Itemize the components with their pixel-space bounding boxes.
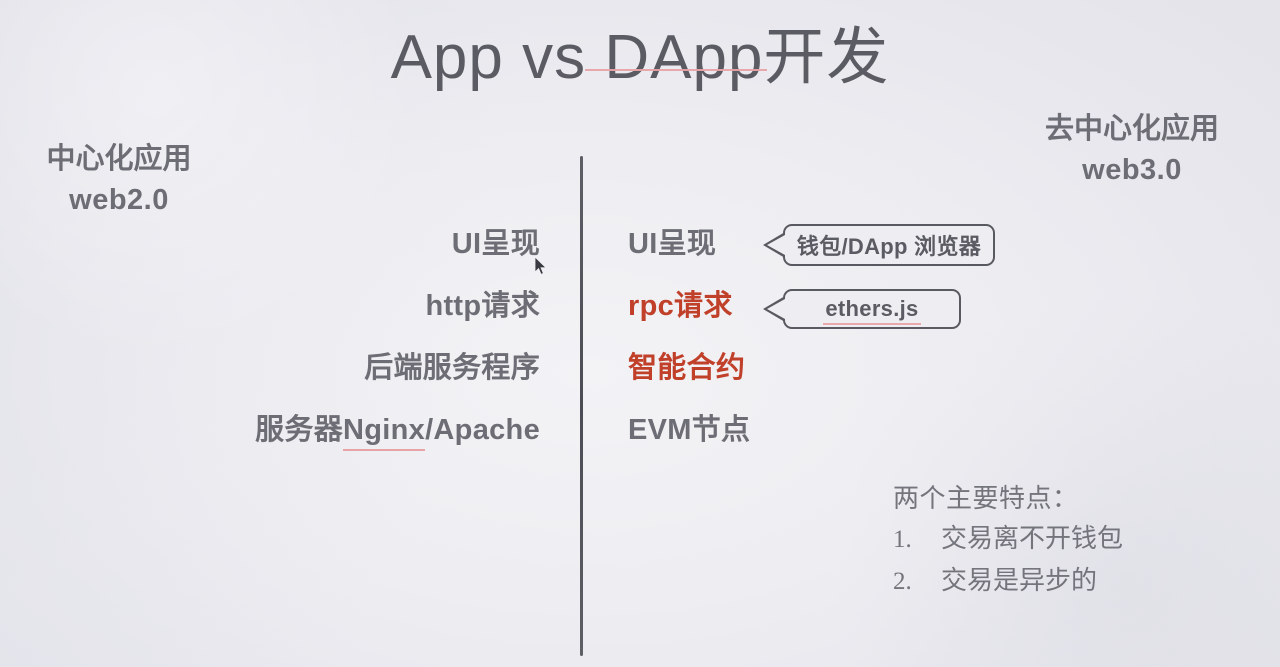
callout-tail-fill-icon: [767, 235, 785, 255]
right-stack-item-contract: 智能合约: [628, 346, 948, 408]
notes-block: 两个主要特点： 1. 交易离不开钱包 2. 交易是异步的: [893, 478, 1123, 602]
left-stack-item-backend: 后端服务程序: [100, 346, 540, 408]
column-divider: [580, 156, 583, 656]
title-underline: [585, 69, 767, 71]
callout-wallet-browser-label: 钱包/DApp 浏览器: [797, 229, 981, 261]
callout-ethers-label: ethers.js: [825, 296, 918, 322]
right-column-subheader: web3.0: [1012, 153, 1252, 188]
left-stack-item-ui: UI呈现: [100, 222, 540, 284]
left-stack-item-http: http请求: [100, 284, 540, 346]
left-column-header: 中心化应用 web2.0: [24, 142, 214, 219]
left-column-stack: UI呈现 http请求 后端服务程序 服务器Nginx/Apache: [100, 222, 540, 470]
left-stack-item-server: 服务器Nginx/Apache: [100, 408, 540, 470]
notes-item-text: 交易是异步的: [941, 560, 1097, 600]
right-column-header-label: 去中心化应用: [1045, 113, 1219, 145]
notes-item-number: 1.: [893, 520, 941, 560]
callout-ethers: ethers.js: [783, 289, 961, 329]
notes-item: 1. 交易离不开钱包: [893, 518, 1123, 560]
left-stack-item-server-nginx: Nginx: [343, 414, 425, 446]
notes-title: 两个主要特点：: [893, 478, 1123, 518]
notes-item-number: 2.: [893, 562, 941, 602]
page-title: App vs DApp开发: [0, 6, 1280, 96]
left-stack-item-server-prefix: 服务器: [255, 414, 343, 446]
right-column-header: 去中心化应用 web3.0: [1012, 112, 1252, 189]
left-column-header-label: 中心化应用: [46, 143, 191, 175]
notes-item: 2. 交易是异步的: [893, 560, 1123, 602]
callout-wallet-browser: 钱包/DApp 浏览器: [783, 224, 995, 266]
slide-canvas: App vs DApp开发 中心化应用 web2.0 去中心化应用 web3.0…: [0, 0, 1280, 667]
notes-item-text: 交易离不开钱包: [941, 518, 1123, 558]
left-column-subheader: web2.0: [24, 183, 214, 218]
callout-tail-fill-icon: [767, 299, 785, 319]
left-stack-item-server-suffix: /Apache: [425, 414, 540, 446]
right-stack-item-evm: EVM节点: [628, 408, 948, 470]
